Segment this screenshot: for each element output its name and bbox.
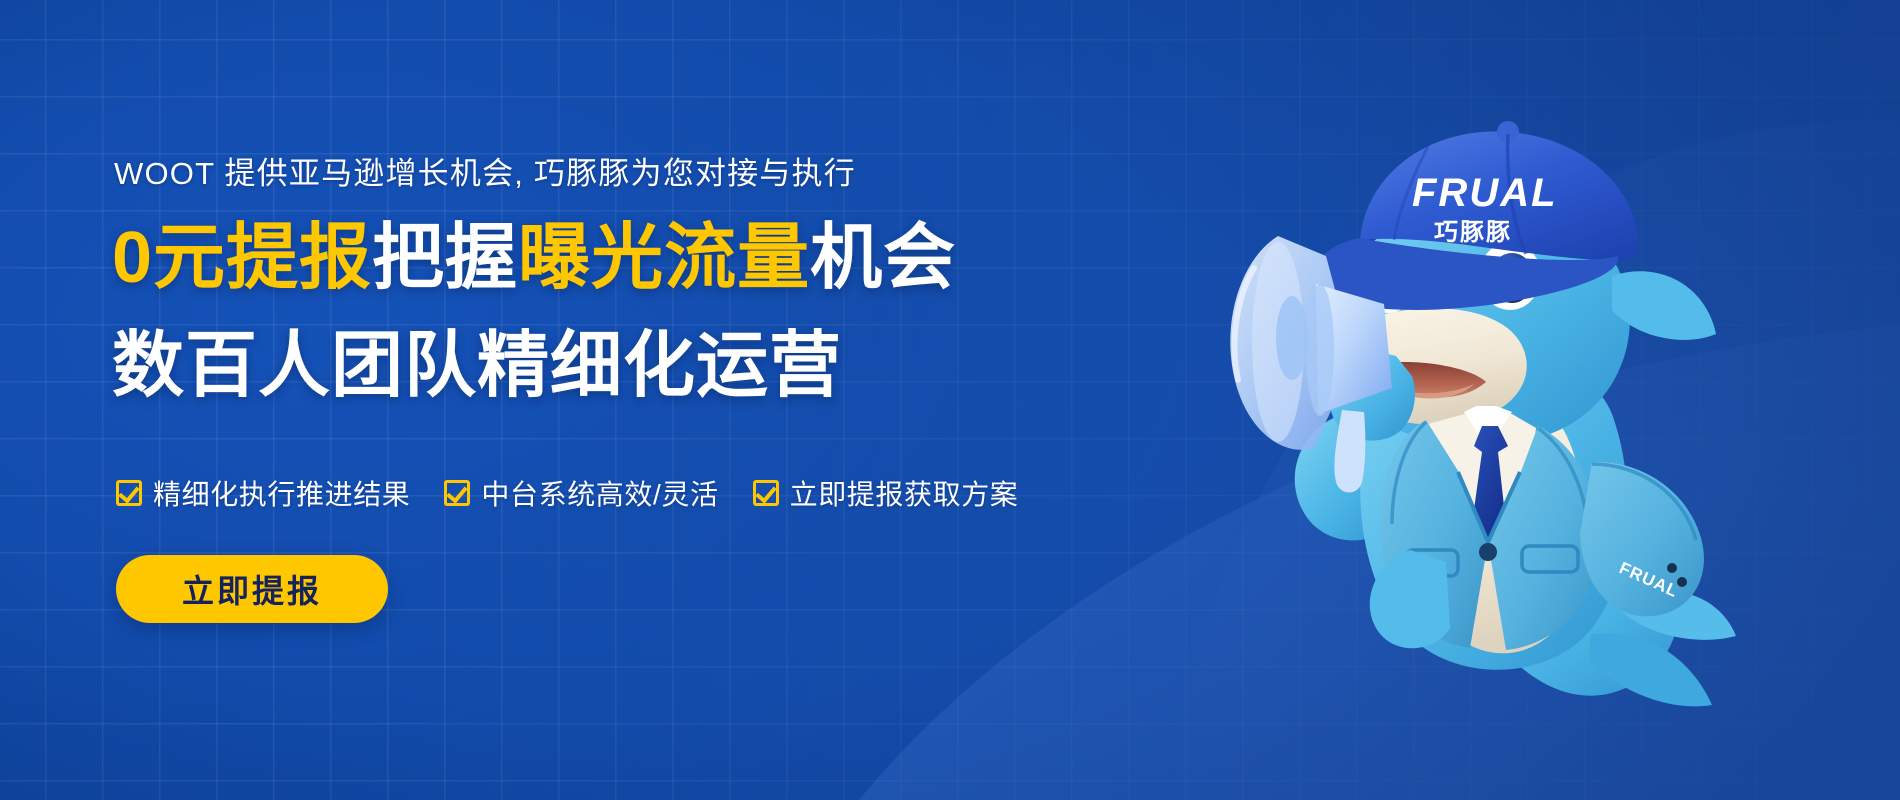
cap-brand-cn-text: 巧豚豚 xyxy=(1434,219,1512,246)
feature-item-2: 中台系统高效/灵活 xyxy=(444,473,718,513)
submit-now-cta-button[interactable]: 立即提报 xyxy=(116,555,388,623)
headline-segment-3: 曝光流量 xyxy=(518,218,810,298)
checkbox-checked-icon xyxy=(116,480,142,506)
mascot-illustration: FRUAL 巧豚豚 xyxy=(1220,80,1780,780)
headline-segment-5: 数百人团队精细化运营 xyxy=(112,326,842,406)
checkbox-checked-icon xyxy=(753,480,779,506)
cap-brand-text: FRUAL xyxy=(1412,171,1558,215)
headline-segment-1: 0元提报 xyxy=(112,218,372,298)
headline-line-1: 0元提报把握曝光流量机会 xyxy=(112,222,956,294)
feature-label-1: 精细化执行推进结果 xyxy=(153,473,410,513)
banner-subtitle: WOOT 提供亚马逊增长机会, 巧豚豚为您对接与执行 xyxy=(114,148,856,193)
headline-segment-2: 把握 xyxy=(372,218,518,298)
feature-label-3: 立即提报获取方案 xyxy=(790,473,1019,513)
feature-item-3: 立即提报获取方案 xyxy=(753,473,1019,513)
headline-line-2: 数百人团队精细化运营 xyxy=(112,330,842,402)
feature-item-1: 精细化执行推进结果 xyxy=(116,473,410,513)
checkbox-checked-icon xyxy=(444,480,470,506)
promo-banner: WOOT 提供亚马逊增长机会, 巧豚豚为您对接与执行 0元提报把握曝光流量机会 … xyxy=(0,0,1900,800)
suit-button xyxy=(1479,543,1497,561)
headline-segment-4: 机会 xyxy=(810,218,956,298)
feature-list: 精细化执行推进结果 中台系统高效/灵活 立即提报获取方案 xyxy=(116,473,1018,513)
feature-label-2: 中台系统高效/灵活 xyxy=(481,473,718,513)
banner-content: WOOT 提供亚马逊增长机会, 巧豚豚为您对接与执行 0元提报把握曝光流量机会 … xyxy=(112,0,1262,800)
